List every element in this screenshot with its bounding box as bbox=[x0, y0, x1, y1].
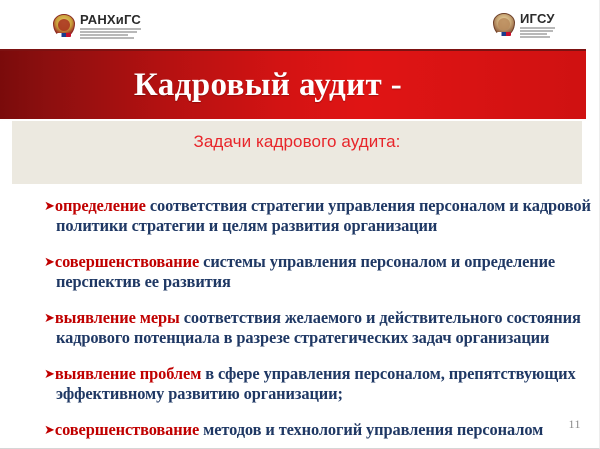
bullet-list: ➤определение соответствия стратегии упра… bbox=[44, 180, 592, 449]
list-item: ➤совершенствование системы управления пе… bbox=[44, 252, 592, 292]
logo-ranhigs-tagline bbox=[80, 28, 141, 39]
slide-title: Кадровый аудит - bbox=[0, 51, 586, 119]
logo-igsu-text: ИГСУ bbox=[520, 11, 555, 39]
list-item: ➤выявление меры соответствия желаемого и… bbox=[44, 308, 592, 348]
logo-ranhigs: РАНХиГС bbox=[52, 12, 141, 40]
slide-subtitle: Задачи кадрового аудита: bbox=[12, 132, 582, 152]
arrow-bullet-icon: ➤ bbox=[44, 199, 55, 214]
arrow-bullet-icon: ➤ bbox=[44, 255, 55, 270]
list-item: ➤совершенствование методов и технологий … bbox=[44, 420, 592, 440]
list-item-lead: выявление меры bbox=[55, 308, 180, 327]
logo-bar: РАНХиГС ИГСУ bbox=[0, 0, 600, 49]
list-item-lead: совершенствование bbox=[55, 420, 199, 439]
page-number: 11 bbox=[568, 417, 581, 432]
title-banner: Кадровый аудит - bbox=[0, 49, 586, 119]
arrow-bullet-icon: ➤ bbox=[44, 311, 55, 326]
logo-igsu-word: ИГСУ bbox=[520, 11, 555, 26]
list-item-lead: определение bbox=[55, 196, 146, 215]
arrow-bullet-icon: ➤ bbox=[44, 423, 55, 438]
subtitle-block: Задачи кадрового аудита: bbox=[12, 121, 582, 184]
list-item-lead: совершенствование bbox=[55, 252, 199, 271]
list-item: ➤определение соответствия стратегии упра… bbox=[44, 196, 592, 236]
list-item-text: методов и технологий управления персонал… bbox=[199, 420, 543, 439]
list-item-lead: выявление проблем bbox=[55, 364, 201, 383]
list-item: ➤выявление проблем в сфере управления пе… bbox=[44, 364, 592, 404]
logo-ranhigs-word: РАНХиГС bbox=[80, 12, 141, 27]
coat-of-arms-icon bbox=[492, 12, 516, 38]
presentation-slide: РАНХиГС ИГСУ Кадровый аудит - Задачи кад… bbox=[0, 0, 600, 449]
logo-igsu: ИГСУ bbox=[492, 11, 555, 39]
coat-of-arms-icon bbox=[52, 13, 76, 39]
logo-ranhigs-text: РАНХиГС bbox=[80, 12, 141, 40]
logo-igsu-tagline bbox=[520, 27, 555, 38]
arrow-bullet-icon: ➤ bbox=[44, 367, 55, 382]
